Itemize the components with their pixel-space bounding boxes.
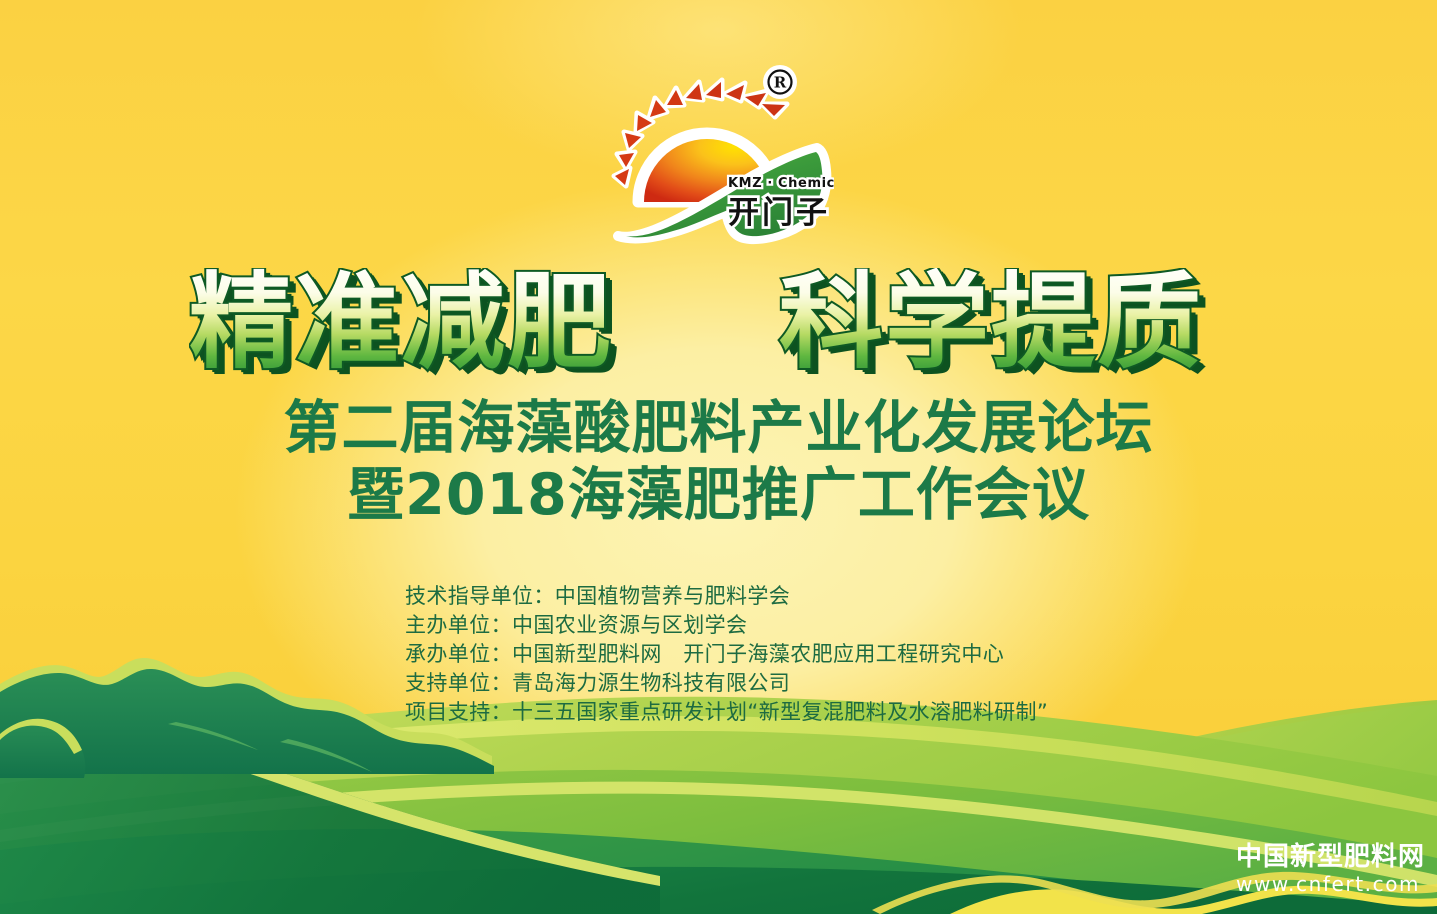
headline-part2: 科学提质	[779, 268, 1203, 383]
info-line-supporter: 支持单位：青岛海力源生物科技有限公司	[405, 673, 1125, 694]
info-line-technical-guidance: 技术指导单位：中国植物营养与肥料学会	[405, 586, 1125, 607]
headline-part1: 精准减肥	[189, 268, 613, 383]
site-watermark: 中国新型肥料网 www.cnfert.com	[1236, 843, 1425, 896]
watermark-url: www.cnfert.com	[1236, 872, 1425, 896]
registered-mark-icon: R	[763, 65, 797, 99]
headline-container: 精准减肥 科学提质 精准减肥 科学提质 精准减肥 科学提质	[0, 268, 1437, 388]
info-line-organizer: 主办单位：中国农业资源与区划学会	[405, 615, 1125, 636]
kmz-chemical-logo: R KMZ · Chemical 开门子	[604, 60, 834, 245]
headline-art: 精准减肥 科学提质 精准减肥 科学提质 精准减肥 科学提质	[189, 268, 1249, 388]
subtitle-line-1: 第二届海藻酸肥料产业化发展论坛	[0, 398, 1437, 458]
watermark-site-name: 中国新型肥料网	[1236, 843, 1425, 871]
logo-container: R KMZ · Chemical 开门子	[604, 60, 834, 245]
subtitle-container: 第二届海藻酸肥料产业化发展论坛 暨2018海藻肥推广工作会议	[0, 398, 1437, 526]
info-block: 技术指导单位：中国植物营养与肥料学会 主办单位：中国农业资源与区划学会 承办单位…	[405, 586, 1125, 731]
subtitle-line-2: 暨2018海藻肥推广工作会议	[0, 465, 1437, 525]
logo-brand-en: KMZ · Chemical	[728, 176, 834, 191]
info-line-project-support: 项目支持：十三五国家重点研发计划“新型复混肥料及水溶肥料研制”	[405, 702, 1125, 723]
logo-brand-text: KMZ · Chemical 开门子	[728, 176, 834, 231]
poster-canvas: R KMZ · Chemical 开门子	[0, 0, 1437, 914]
logo-brand-cn: 开门子	[728, 195, 830, 231]
svg-text:R: R	[773, 74, 786, 92]
info-line-co-organizer: 承办单位：中国新型肥料网 开门子海藻农肥应用工程研究中心	[405, 644, 1125, 665]
